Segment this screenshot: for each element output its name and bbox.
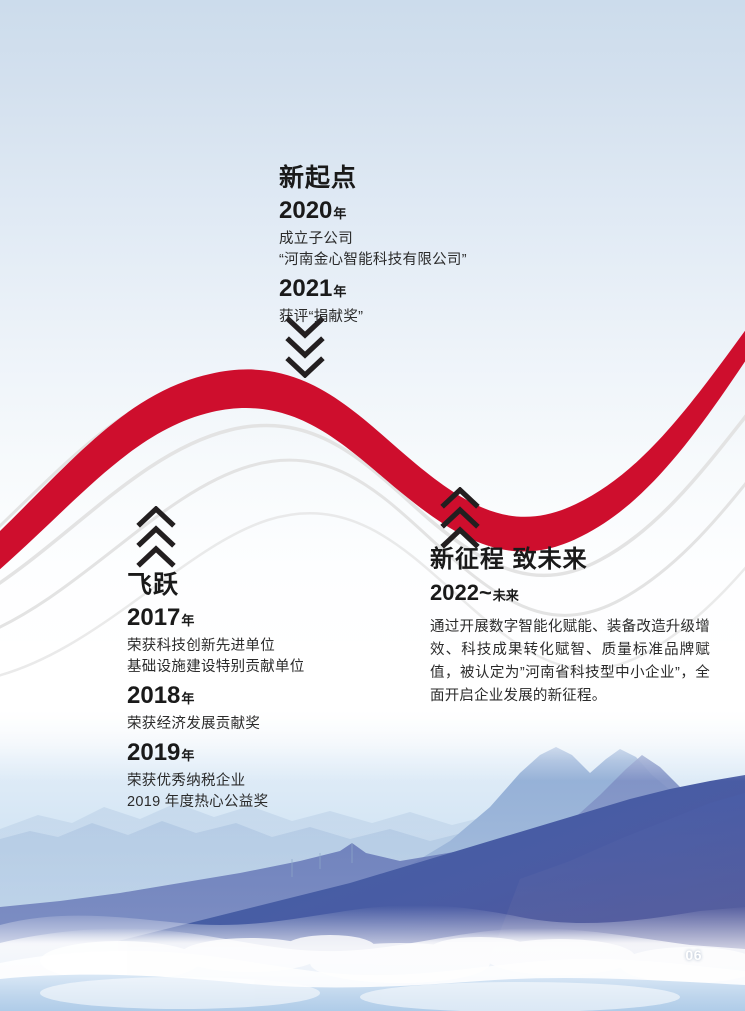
chevron-up-icon-group-left bbox=[132, 506, 180, 568]
page-number: 06 bbox=[685, 947, 702, 963]
year-number: 2017 bbox=[127, 604, 180, 631]
milestone-detail-line: “河南金心智能科技有限公司” bbox=[279, 250, 609, 271]
year-suffix: 年 bbox=[333, 284, 346, 299]
year-suffix: 年 bbox=[333, 206, 346, 221]
milestone-detail-line: 成立子公司 bbox=[279, 229, 609, 250]
milestone-heading-right: 新征程 致未来 bbox=[430, 545, 710, 575]
milestone-year-2019: 2019年 bbox=[127, 739, 377, 770]
year-number: 2021 bbox=[279, 275, 332, 302]
milestone-heading-left: 飞跃 bbox=[127, 570, 377, 600]
brochure-page: 新起点 2020年 成立子公司 “河南金心智能科技有限公司” 2021年 获评“… bbox=[0, 0, 745, 1011]
chevron-up-icon-group-right bbox=[436, 487, 484, 549]
milestone-block-left: 飞跃 2017年 荣获科技创新先进单位 基础设施建设特别贡献单位 2018年 荣… bbox=[127, 570, 377, 813]
period-number: 2022~ bbox=[430, 580, 492, 605]
year-number: 2018 bbox=[127, 682, 180, 709]
milestone-year-2018: 2018年 bbox=[127, 682, 377, 713]
milestone-paragraph: 通过开展数字智能化赋能、装备改造升级增效、科技成果转化赋智、质量标准品牌赋值，被… bbox=[430, 616, 710, 708]
milestone-block-top: 新起点 2020年 成立子公司 “河南金心智能科技有限公司” 2021年 获评“… bbox=[279, 163, 609, 328]
year-suffix: 年 bbox=[181, 613, 194, 628]
milestone-year-2017: 2017年 bbox=[127, 604, 377, 635]
ribbon-curves bbox=[0, 0, 745, 1011]
milestone-detail-line: 荣获经济发展贡献奖 bbox=[127, 714, 377, 735]
milestone-heading-top: 新起点 bbox=[279, 163, 609, 193]
milestone-detail-line: 基础设施建设特别贡献单位 bbox=[127, 657, 377, 678]
milestone-detail-line: 获评“捐献奖” bbox=[279, 307, 609, 328]
milestone-detail-line: 荣获科技创新先进单位 bbox=[127, 636, 377, 657]
period-suffix: 未来 bbox=[493, 588, 519, 603]
milestone-period-2022: 2022~未来 bbox=[430, 579, 710, 610]
milestone-detail-line: 2019 年度热心公益奖 bbox=[127, 792, 377, 813]
year-suffix: 年 bbox=[181, 748, 194, 763]
year-suffix: 年 bbox=[181, 691, 194, 706]
year-number: 2020 bbox=[279, 197, 332, 224]
milestone-block-right: 新征程 致未来 2022~未来 通过开展数字智能化赋能、装备改造升级增效、科技成… bbox=[430, 545, 710, 708]
milestone-year-2021: 2021年 bbox=[279, 275, 609, 306]
milestone-detail-line: 荣获优秀纳税企业 bbox=[127, 771, 377, 792]
year-number: 2019 bbox=[127, 739, 180, 766]
milestone-year-2020: 2020年 bbox=[279, 197, 609, 228]
